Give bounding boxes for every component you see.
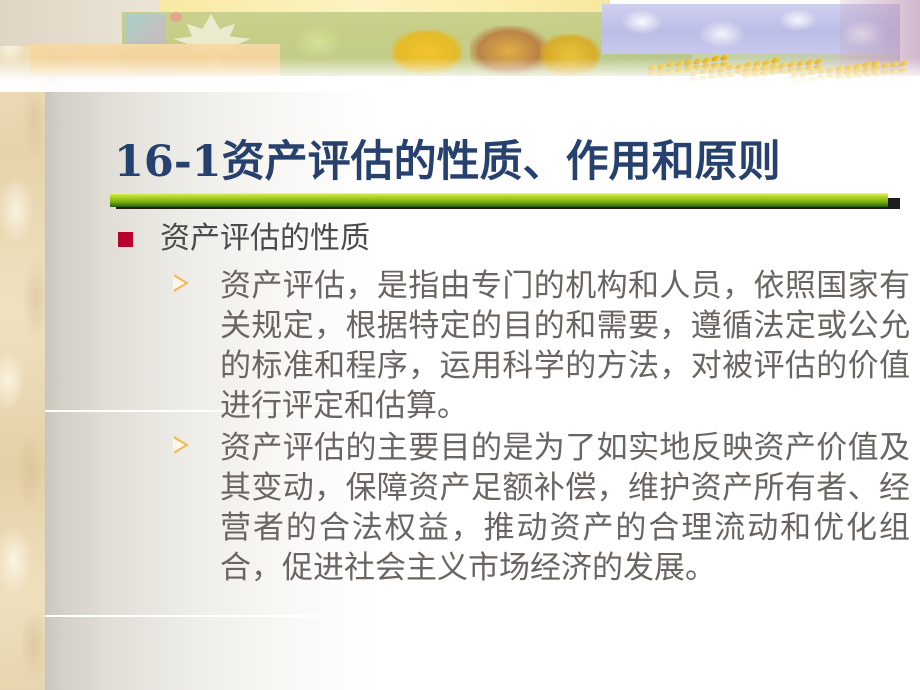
bullet-level1-text: 资产评估的性质 [160,221,370,256]
bullet-level2: 资产评估，是指由专门的机构和人员，依照国家有关规定，根据特定的目的和需要，遵循法… [110,266,910,426]
slide-content: 资产评估的性质 资产评估，是指由专门的机构和人员，依照国家有关规定，根据特定的目… [110,218,910,590]
bullet-level1: 资产评估的性质 [110,218,910,260]
arrow-bullet-icon [174,436,189,454]
slide-title: 16-1资产评估的性质、作用和原则 [114,136,904,188]
title-accent-bar-fill [110,193,888,207]
title-accent-bar [110,193,900,210]
bullet-level2-text: 资产评估的主要目的是为了如实地反映资产价值及其变动，保障资产足额补偿，维护资产所… [220,428,910,588]
bullet-level2-text: 资产评估，是指由专门的机构和人员，依照国家有关规定，根据特定的目的和需要，遵循法… [220,266,910,426]
background-hairline-2 [45,615,920,617]
arrow-bullet-icon [174,274,189,292]
slide: 16-1资产评估的性质、作用和原则 资产评估的性质 资产评估，是指由专门的机构和… [0,0,920,690]
header-fade-overlay [0,58,920,92]
bullet-level2: 资产评估的主要目的是为了如实地反映资产价值及其变动，保障资产足额补偿，维护资产所… [110,428,910,588]
square-bullet-icon [118,232,133,247]
left-texture-strip [0,0,45,690]
